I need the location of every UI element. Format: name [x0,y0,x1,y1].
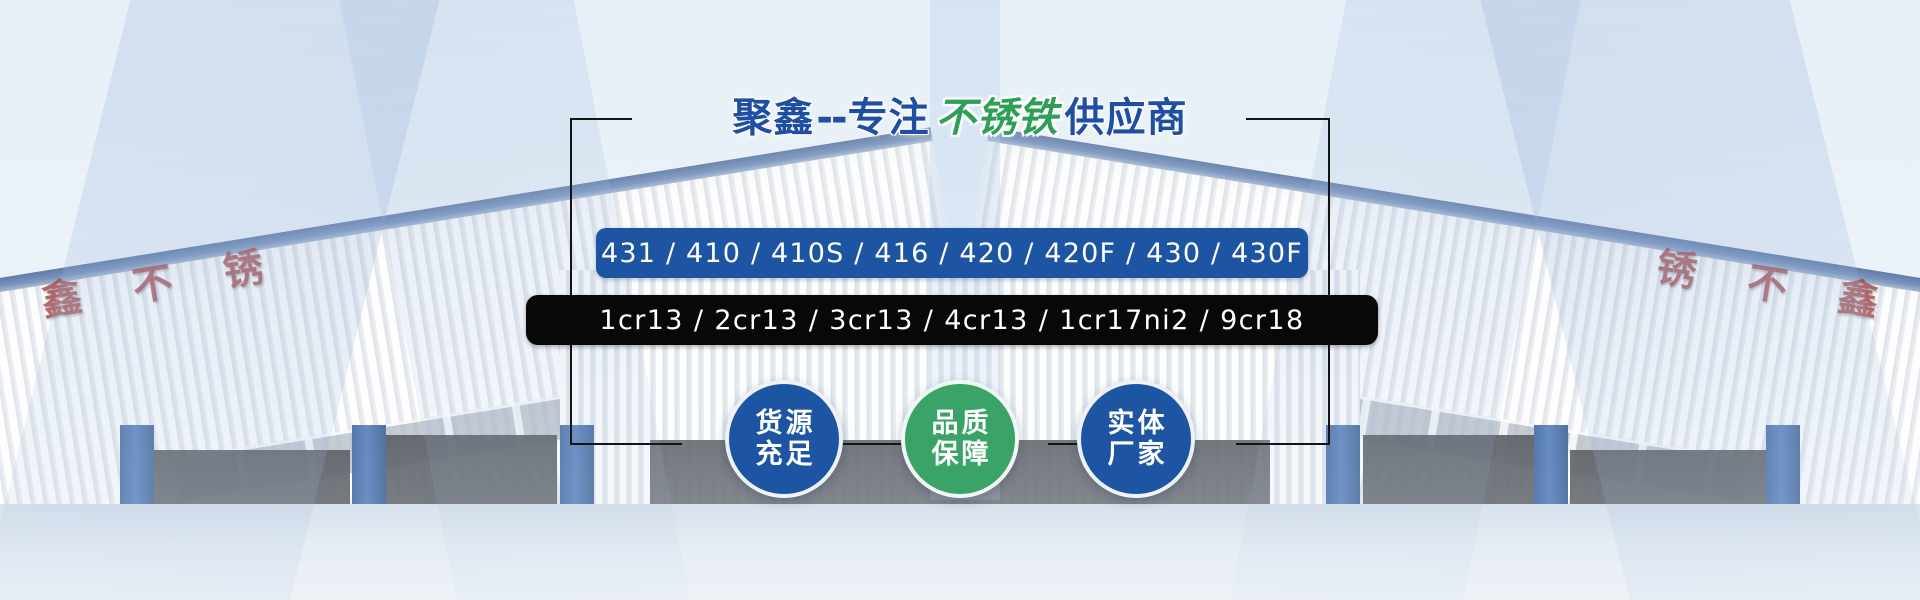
feature-badge-group: 货源 充足 品质 保障 实体 厂家 [0,380,1920,498]
banner-content: 聚鑫--专注不锈铁供应商 431 / 410 / 410S / 416 / 42… [0,0,1920,600]
steel-grade-bar-secondary: 1cr13 / 2cr13 / 3cr13 / 4cr13 / 1cr17ni2… [526,295,1378,345]
feature-badge-quality: 品质 保障 [901,380,1019,498]
feature-badge-factory: 实体 厂家 [1077,380,1195,498]
headline-brand: 聚鑫 [732,95,814,141]
banner-headline: 聚鑫--专注不锈铁供应商 [0,92,1920,144]
feature-badge-quality-line2: 保障 [929,439,992,470]
headline-focus: 专注 [848,95,930,141]
headline-suffix: 供应商 [1065,95,1188,141]
feature-badge-quality-line1: 品质 [929,408,992,439]
promo-banner: 鑫 不 锈 锈 不 鑫 [0,0,1920,600]
feature-badge-factory-line1: 实体 [1105,408,1168,439]
headline-highlight: 不锈铁 [930,95,1065,141]
feature-badge-supply: 货源 充足 [725,380,843,498]
feature-badge-supply-line1: 货源 [753,408,816,439]
steel-grade-bar-primary: 431 / 410 / 410S / 416 / 420 / 420F / 43… [596,228,1308,278]
feature-badge-supply-line2: 充足 [753,439,816,470]
headline-dashes: -- [814,95,847,141]
feature-badge-factory-line2: 厂家 [1105,439,1168,470]
